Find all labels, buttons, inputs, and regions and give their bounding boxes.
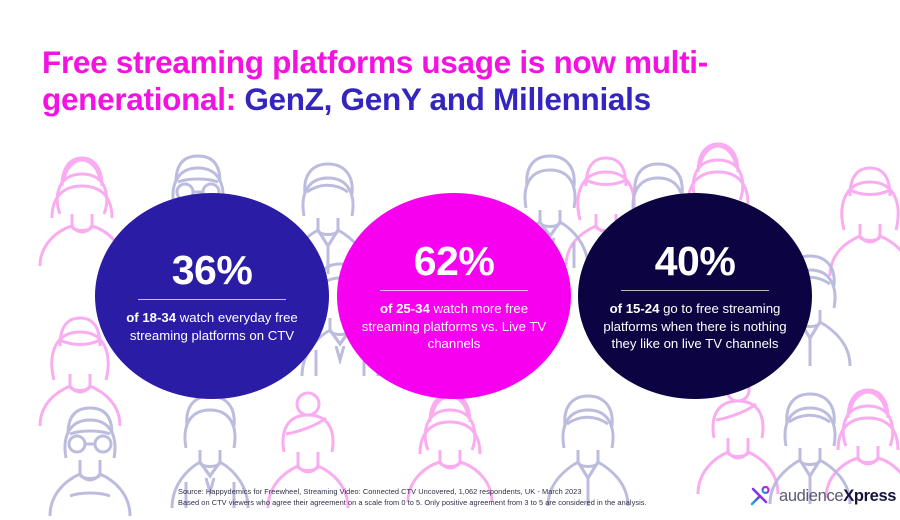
stat-value-2: 62% [414,239,495,283]
stat-desc-bold-3: of 15-24 [610,301,660,316]
source-line-1: Source: Happydemics for Freewheel, Strea… [178,487,718,498]
stat-circle-15-24: 40% of 15-24 go to free streaming platfo… [578,193,812,399]
title-highlight-2: generational: [42,81,236,117]
title-highlight-1: Free streaming platforms usage is now mu… [42,44,708,80]
brand-wordmark-light: audience [779,487,843,505]
brand-logo: audienceXpress [748,484,896,508]
stat-description-1: of 18-34 watch everyday free streaming p… [115,309,310,344]
infographic-root: Free streaming platforms usage is now mu… [0,0,900,520]
title-line-2: generational: GenZ, GenY and Millennials [42,81,802,118]
stat-divider-2 [380,290,528,291]
stat-circle-25-34: 62% of 25-34 watch more free streaming p… [337,193,571,399]
stat-description-2: of 25-34 watch more free streaming platf… [357,300,552,353]
page-title: Free streaming platforms usage is now mu… [42,44,802,118]
brand-wordmark-bold: Xpress [843,487,896,505]
audiencexpress-mark-icon [748,484,772,508]
stat-value-3: 40% [655,239,736,283]
source-line-2: Based on CTV viewers who agree their agr… [178,498,718,509]
stat-circle-18-34: 36% of 18-34 watch everyday free streami… [95,193,329,399]
title-rest: GenZ, GenY and Millennials [236,81,651,117]
title-line-1: Free streaming platforms usage is now mu… [42,44,802,81]
footer-source-note: Source: Happydemics for Freewheel, Strea… [178,487,718,508]
brand-wordmark: audienceXpress [779,487,896,506]
stat-desc-bold-1: of 18-34 [126,310,176,325]
stat-description-3: of 15-24 go to free streaming platforms … [598,300,793,353]
stat-value-1: 36% [172,248,253,292]
stat-divider-3 [621,290,769,291]
stat-divider-1 [138,299,286,300]
stat-desc-bold-2: of 25-34 [380,301,430,316]
